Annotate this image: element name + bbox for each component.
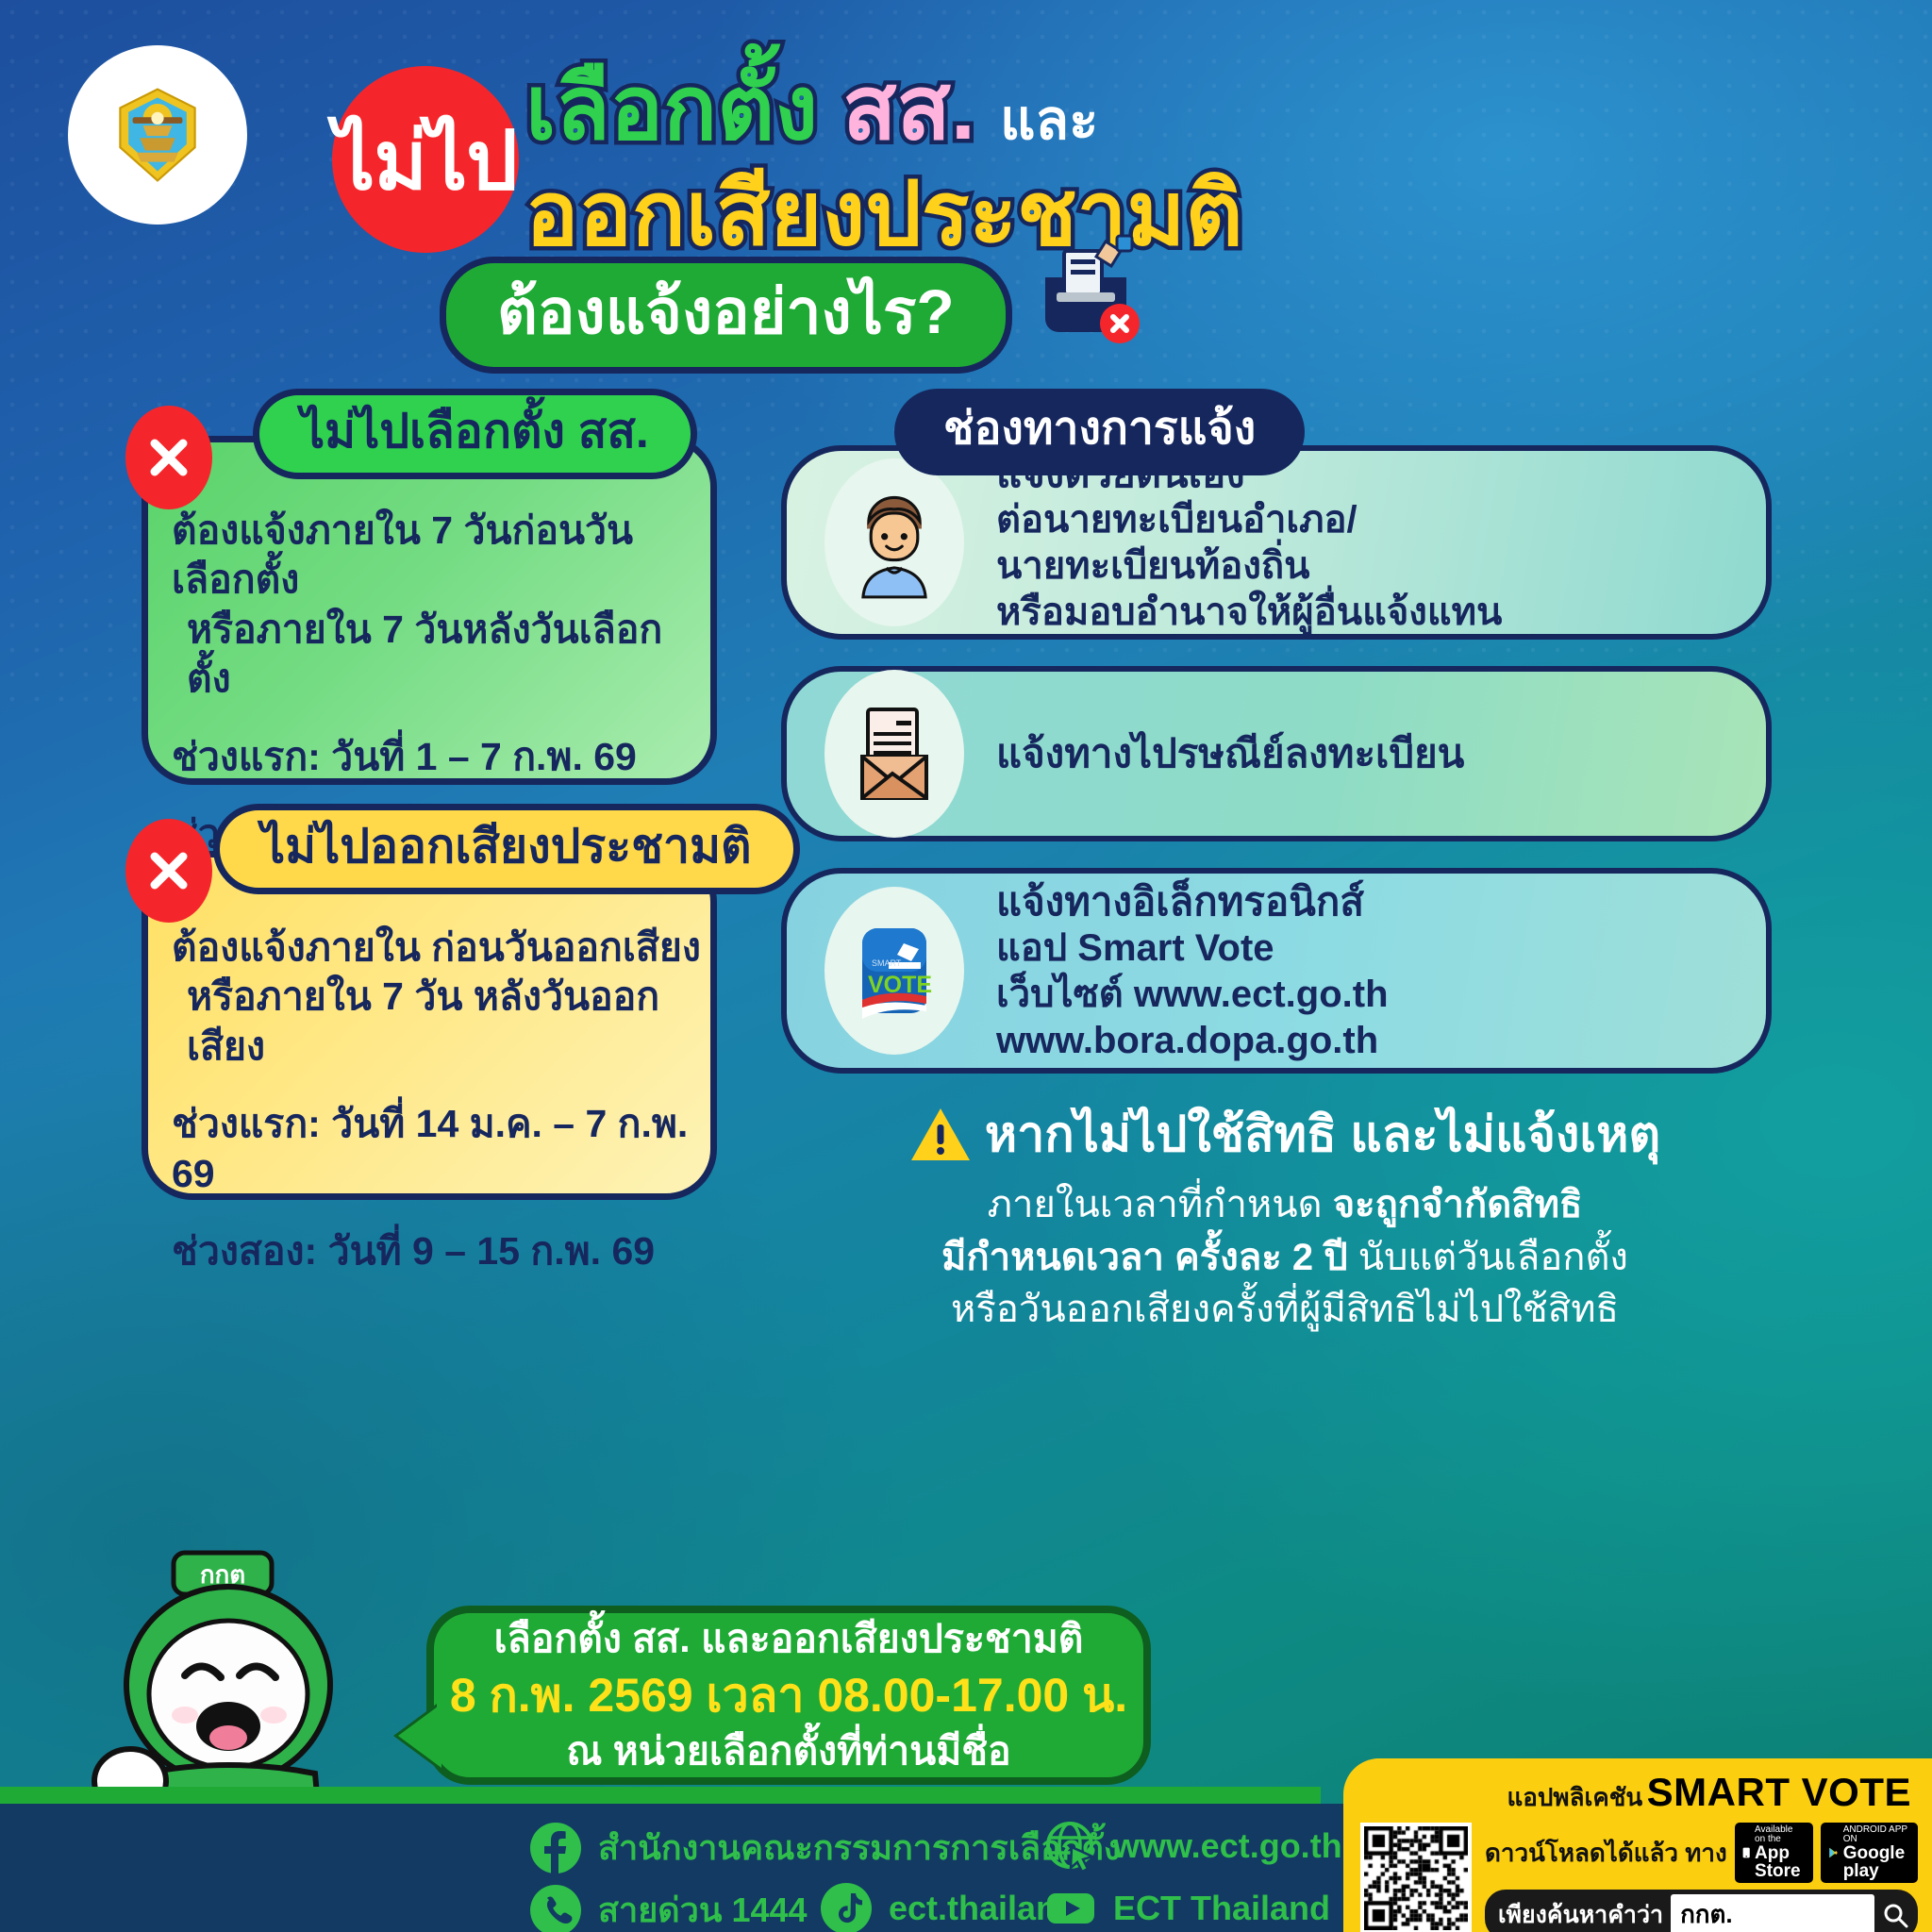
bubble-tail xyxy=(398,1704,441,1768)
warning-body: ภายในเวลาที่กำหนด จะถูกจำกัดสิทธิ มีกำหน… xyxy=(785,1179,1785,1336)
warning-line-2-bold: มีกำหนดเวลา ครั้งละ 2 ปี xyxy=(941,1237,1358,1278)
footer-youtube-label: ECT Thailand xyxy=(1113,1889,1330,1928)
promo-right-column: ดาวน์โหลดได้แล้ว ทาง Available on the Ap… xyxy=(1485,1823,1918,1932)
promo-download-text: ดาวน์โหลดได้แล้ว ทาง xyxy=(1485,1834,1727,1873)
title-mp-word: สส. xyxy=(842,58,975,158)
person-icon xyxy=(845,484,943,601)
channel-line: ต่อนายทะเบียนอำเภอ/ xyxy=(996,497,1502,543)
person-icon-wrap xyxy=(824,458,964,626)
bullet-list-referendum: ต้องแจ้งภายใน ก่อนวันออกเสียง หรือภายใน … xyxy=(172,923,709,1305)
warning-line-2: มีกำหนดเวลา ครั้งละ 2 ปี นับแต่วันเลือกต… xyxy=(785,1232,1785,1284)
bullet-item: ช่วงแรก: วันที่ 14 ม.ค. – 7 ก.พ. 69 xyxy=(172,1099,709,1198)
svg-text:SMART: SMART xyxy=(872,958,902,968)
qr-code-canvas xyxy=(1364,1826,1468,1930)
channel-line: เว็บไซต์ www.ect.go.th xyxy=(996,972,1389,1018)
footer-hotline[interactable]: สายด่วน 1444 xyxy=(530,1883,808,1932)
footer-youtube[interactable]: ECT Thailand xyxy=(1045,1883,1330,1932)
card-label-referendum: ไม่ไปออกเสียงประชามติ xyxy=(213,804,800,894)
title-line-1: เลือกตั้ง สส. และ xyxy=(525,58,1098,158)
card-label-referendum-text: ไม่ไปออกเสียงประชามติ xyxy=(261,820,752,873)
globe-cursor-icon xyxy=(1045,1821,1096,1872)
warning-line-1-bold: จะถูกจำกัดสิทธิ xyxy=(1333,1184,1583,1225)
search-icon xyxy=(1882,1902,1908,1928)
app-store-big: App Store xyxy=(1755,1844,1806,1880)
bullet-sub: หรือภายใน 7 วันหลังวันเลือกตั้ง xyxy=(172,605,700,704)
promo-search-field[interactable]: กกต. xyxy=(1671,1894,1874,1932)
app-store-small: Available on the xyxy=(1755,1825,1806,1844)
x-mark-icon-referendum xyxy=(125,819,212,923)
footer-website[interactable]: www.ect.go.th xyxy=(1045,1821,1342,1872)
footer-green-strip xyxy=(0,1787,1321,1806)
channel-headline: แจ้งทางอิเล็กทรอนิกส์ xyxy=(996,877,1389,925)
channel-line: แอป Smart Vote xyxy=(996,925,1389,972)
warning-line-1-normal: ภายในเวลาที่กำหนด xyxy=(988,1184,1333,1225)
promo-title-big: SMART VOTE xyxy=(1647,1770,1911,1814)
infographic-poster: ไม่ไป เลือกตั้ง สส. และ ออกเสียงประชามติ… xyxy=(0,0,1932,1932)
bullet-main: ช่วงแรก: วันที่ 14 ม.ค. – 7 ก.พ. 69 xyxy=(172,1102,688,1194)
question-banner: ต้องแจ้งอย่างไร? xyxy=(440,257,1012,374)
apple-phone-icon xyxy=(1742,1843,1750,1862)
bullet-main: ช่วงแรก: วันที่ 1 – 7 ก.พ. 69 xyxy=(172,735,637,778)
bullet-sub: หรือภายใน 7 วัน หลังวันออกเสียง xyxy=(172,972,709,1071)
warning-headline-row: หากไม่ไปใช้สิทธิ และไม่แจ้งเหตุ xyxy=(785,1106,1785,1164)
warning-line-2-normal: นับแต่วันเลือกตั้ง xyxy=(1358,1237,1628,1278)
warning-line-3: หรือวันออกเสียงครั้งที่ผู้มีสิทธิไม่ไปใช… xyxy=(785,1284,1785,1336)
promo-search-bar[interactable]: เพียงค้นหาคำว่า กกต. xyxy=(1485,1890,1918,1932)
footer-hotline-label: สายด่วน 1444 xyxy=(598,1883,808,1932)
promo-grid: ดาวน์โหลดได้แล้ว ทาง Available on the Ap… xyxy=(1360,1823,1917,1932)
bullet-main: ช่วงสอง: วันที่ 9 – 15 ก.พ. 69 xyxy=(172,1229,655,1273)
bullet-item: ต้องแจ้งภายใน ก่อนวันออกเสียง หรือภายใน … xyxy=(172,923,709,1071)
no-go-badge: ไม่ไป xyxy=(332,66,519,253)
question-text: ต้องแจ้งอย่างไร? xyxy=(497,276,955,346)
phone-icon xyxy=(530,1885,581,1932)
channel-line: หรือมอบอำนาจให้ผู้อื่นแจ้งแทน xyxy=(996,590,1502,636)
envelope-letter-icon-wrap xyxy=(824,670,964,838)
channel-electronic-text: แจ้งทางอิเล็กทรอนิกส์ แอป Smart Vote เว็… xyxy=(996,877,1389,1064)
no-go-badge-label: ไม่ไป xyxy=(334,121,517,202)
qr-code[interactable] xyxy=(1360,1823,1472,1932)
promo-title-small: แอปพลิเคชัน xyxy=(1507,1783,1643,1811)
bubble-line-2: 8 ก.พ. 2569 เวลา 08.00-17.00 น. xyxy=(450,1666,1127,1725)
channel-line: www.bora.dopa.go.th xyxy=(996,1018,1389,1064)
warning-triangle-icon xyxy=(909,1106,972,1164)
youtube-icon xyxy=(1045,1883,1096,1932)
footer-tiktok[interactable]: ect.thailand xyxy=(821,1883,1077,1932)
card-label-mp: ไม่ไปเลือกตั้ง สส. xyxy=(253,389,697,479)
footer-website-label: www.ect.go.th xyxy=(1113,1826,1342,1866)
footer-facebook[interactable]: สำนักงานคณะกรรมการการเลือกตั้ง xyxy=(530,1821,1120,1874)
channel-registered-mail-text: แจ้งทางไปรษณีย์ลงทะเบียน xyxy=(996,729,1464,777)
x-mark-icon-mp xyxy=(125,406,212,509)
channel-headline: แจ้งทางไปรษณีย์ลงทะเบียน xyxy=(996,729,1464,777)
channel-electronic: SMART VOTE แจ้งทางอิเล็กทรอนิกส์ แอป Sma… xyxy=(781,868,1772,1074)
bullet-item: ช่วงแรก: วันที่ 1 – 7 ก.พ. 69 xyxy=(172,732,700,781)
promo-title: แอปพลิเคชัน SMART VOTE xyxy=(1360,1770,1917,1817)
channel-in-person-text: แจ้งด้วยตนเอง ต่อนายทะเบียนอำเภอ/ นายทะเ… xyxy=(996,449,1502,636)
voting-date-bubble: เลือกตั้ง สส. และออกเสียงประชามติ 8 ก.พ.… xyxy=(426,1606,1151,1785)
bubble-line-1: เลือกตั้ง สส. และออกเสียงประชามติ xyxy=(494,1616,1084,1662)
warning-title: หากไม่ไปใช้สิทธิ และไม่แจ้งเหตุ xyxy=(985,1106,1660,1164)
channels-header-text: ช่องทางการแจ้ง xyxy=(943,404,1256,454)
tiktok-icon xyxy=(821,1883,872,1932)
warning-block: หากไม่ไปใช้สิทธิ และไม่แจ้งเหตุ ภายในเวล… xyxy=(785,1106,1785,1336)
ballot-box-x-icon xyxy=(1024,234,1147,345)
promo-download-row: ดาวน์โหลดได้แล้ว ทาง Available on the Ap… xyxy=(1485,1823,1918,1883)
bullet-item: ช่วงสอง: วันที่ 9 – 15 ก.พ. 69 xyxy=(172,1226,709,1275)
channels-header: ช่องทางการแจ้ง xyxy=(894,389,1305,475)
facebook-icon xyxy=(530,1823,581,1874)
smart-vote-app-icon-wrap: SMART VOTE xyxy=(824,887,964,1055)
google-play-big: Google play xyxy=(1843,1844,1910,1880)
title-election-word: เลือกตั้ง xyxy=(525,58,818,158)
smart-vote-promo: แอปพลิเคชัน SMART VOTE ดาวน์โหลดได้แล้ว … xyxy=(1343,1758,1932,1932)
promo-search-label: เพียงค้นหาคำว่า xyxy=(1498,1896,1663,1932)
warning-line-1: ภายในเวลาที่กำหนด จะถูกจำกัดสิทธิ xyxy=(785,1179,1785,1231)
card-label-mp-text: ไม่ไปเลือกตั้ง สส. xyxy=(301,405,649,458)
bullet-main: ต้องแจ้งภายใน ก่อนวันออกเสียง xyxy=(172,925,701,969)
envelope-letter-icon xyxy=(847,702,941,806)
channel-registered-mail: แจ้งทางไปรษณีย์ลงทะเบียน xyxy=(781,666,1772,841)
title-and-word: และ xyxy=(1000,90,1098,151)
ect-seal-icon xyxy=(95,73,220,197)
bullet-item: ต้องแจ้งภายใน 7 วันก่อนวันเลือกตั้ง หรือ… xyxy=(172,506,700,704)
google-play-small: ANDROID APP ON xyxy=(1843,1825,1910,1844)
footer-facebook-label: สำนักงานคณะกรรมการการเลือกตั้ง xyxy=(598,1821,1120,1874)
google-play-badge[interactable]: ANDROID APP ON Google play xyxy=(1821,1823,1917,1883)
ect-logo xyxy=(68,45,247,225)
google-play-icon xyxy=(1828,1844,1838,1861)
app-store-badge[interactable]: Available on the App Store xyxy=(1735,1823,1814,1883)
channel-line: นายทะเบียนท้องถิ่น xyxy=(996,543,1502,590)
bubble-line-3: ณ หน่วยเลือกตั้งที่ท่านมีชื่อ xyxy=(566,1728,1010,1774)
bullet-main: ต้องแจ้งภายใน 7 วันก่อนวันเลือกตั้ง xyxy=(172,508,633,601)
smart-vote-app-icon: SMART VOTE xyxy=(847,919,941,1023)
